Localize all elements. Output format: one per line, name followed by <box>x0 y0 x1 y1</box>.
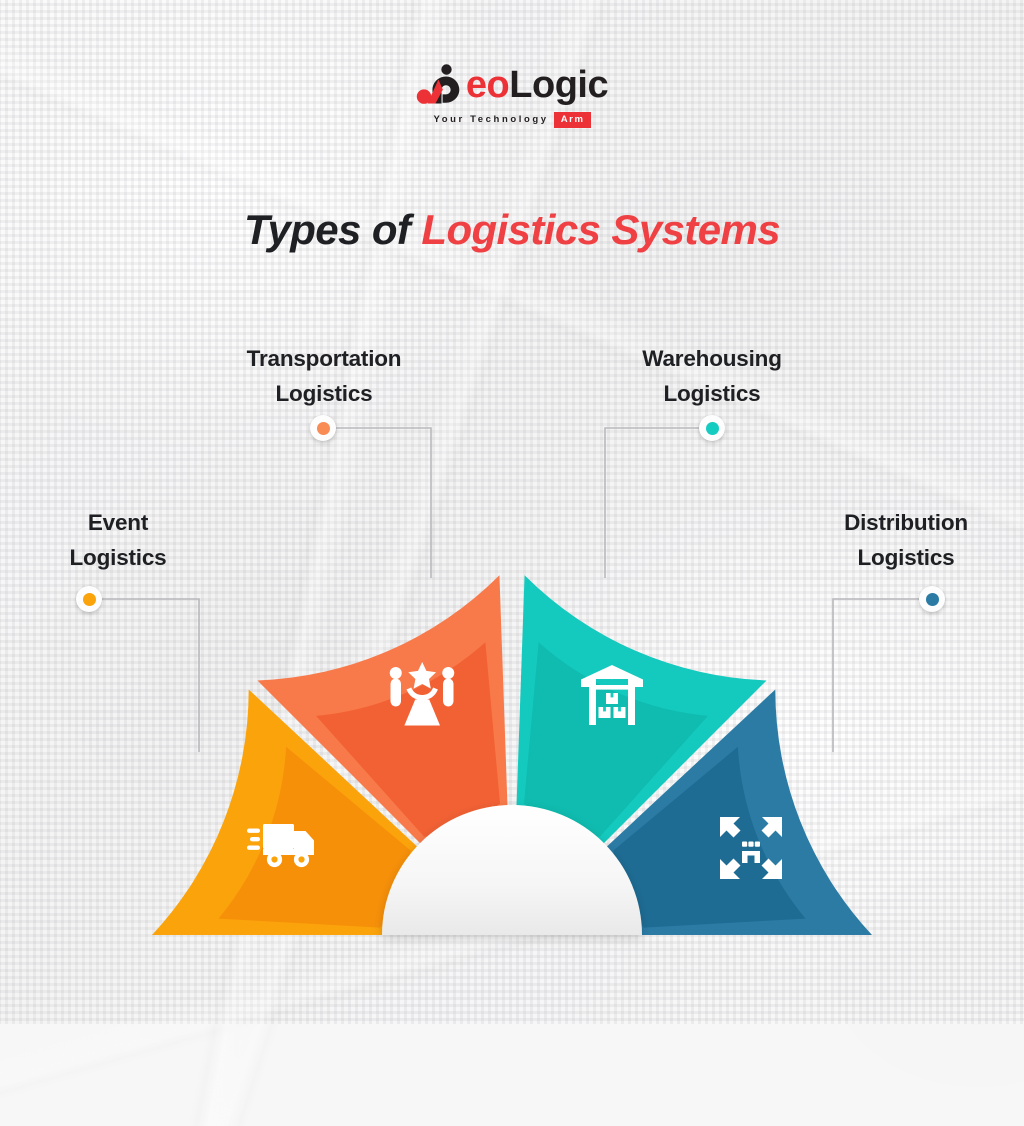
marker-dot-transportation-fill <box>317 422 330 435</box>
event-stage-star-icon <box>388 662 456 733</box>
infographic-canvas: eoLogic Your Technology Arm Types of Log… <box>0 0 1024 1024</box>
delivery-truck-icon <box>247 818 317 877</box>
marker-dot-distribution-fill <box>926 593 939 606</box>
marker-dot-event[interactable] <box>76 586 102 612</box>
label-transportation-logistics: Transportation Logistics <box>184 342 464 412</box>
distribution-arrows-icon <box>718 815 784 886</box>
label-event-logistics: Event Logistics <box>18 506 218 576</box>
marker-dot-event-fill <box>83 593 96 606</box>
marker-dot-warehousing-fill <box>706 422 719 435</box>
warehouse-icon <box>581 665 643 730</box>
label-distribution-logistics: Distribution Logistics <box>806 506 1006 576</box>
marker-dot-warehousing[interactable] <box>699 415 725 441</box>
marker-dot-distribution[interactable] <box>919 586 945 612</box>
marker-dot-transportation[interactable] <box>310 415 336 441</box>
label-warehousing-logistics: Warehousing Logistics <box>572 342 852 412</box>
